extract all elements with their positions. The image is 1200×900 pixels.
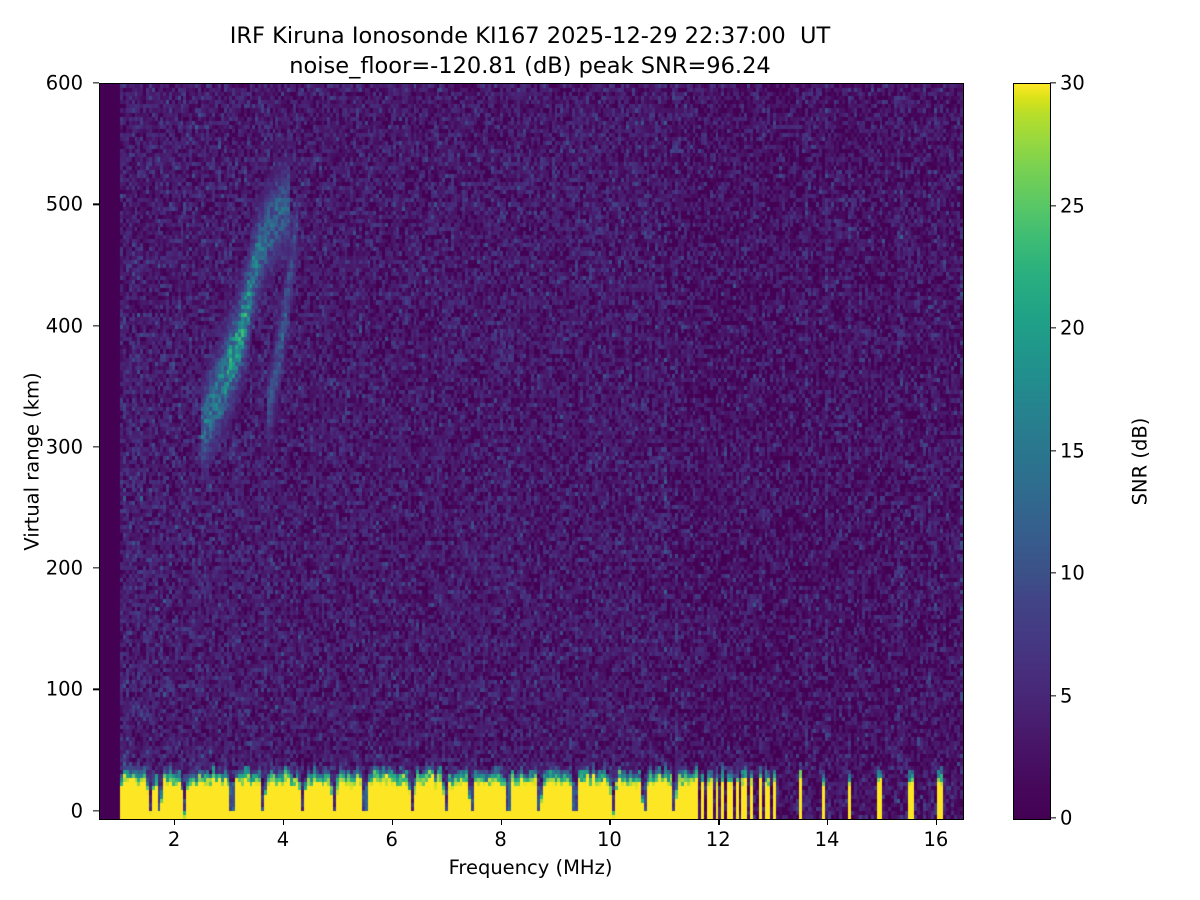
colorbar-tick-label: 30 [1060, 72, 1130, 95]
x-tick-label: 8 [471, 828, 531, 851]
x-tick-label: 4 [253, 828, 313, 851]
page-title: IRF Kiruna Ionosonde KI167 2025-12-29 22… [0, 22, 1060, 81]
x-tick-label: 12 [688, 828, 748, 851]
y-tick-label: 200 [3, 557, 83, 580]
colorbar-wrap [1013, 83, 1049, 818]
ionogram-heatmap [100, 84, 963, 819]
y-tick-label: 100 [3, 678, 83, 701]
x-tick-label: 10 [579, 828, 639, 851]
title-line-1: IRF Kiruna Ionosonde KI167 2025-12-29 22… [0, 22, 1060, 52]
x-tick-label: 14 [797, 828, 857, 851]
colorbar-label: SNR (dB) [1129, 252, 1152, 672]
colorbar-tick-label: 5 [1060, 684, 1130, 707]
x-axis-label: Frequency (MHz) [99, 856, 962, 879]
x-tick-label: 6 [362, 828, 422, 851]
colorbar-tick-label: 15 [1060, 439, 1130, 462]
x-tick-label: 16 [906, 828, 966, 851]
ionogram-figure: IRF Kiruna Ionosonde KI167 2025-12-29 22… [0, 0, 1200, 900]
y-tick-label: 300 [3, 435, 83, 458]
colorbar-tick-label: 0 [1060, 807, 1130, 830]
y-tick-label: 400 [3, 314, 83, 337]
x-tick-label: 2 [144, 828, 204, 851]
title-line-2: noise_floor=-120.81 (dB) peak SNR=96.24 [0, 52, 1060, 82]
ionogram-axes [99, 83, 964, 820]
colorbar-tick-label: 25 [1060, 194, 1130, 217]
colorbar-tick-label: 20 [1060, 317, 1130, 340]
colorbar-tick-label: 10 [1060, 562, 1130, 585]
y-tick-label: 0 [3, 799, 83, 822]
y-axis-label: Virtual range (km) [21, 202, 44, 722]
snr-colorbar [1013, 83, 1051, 820]
y-tick-label: 500 [3, 193, 83, 216]
